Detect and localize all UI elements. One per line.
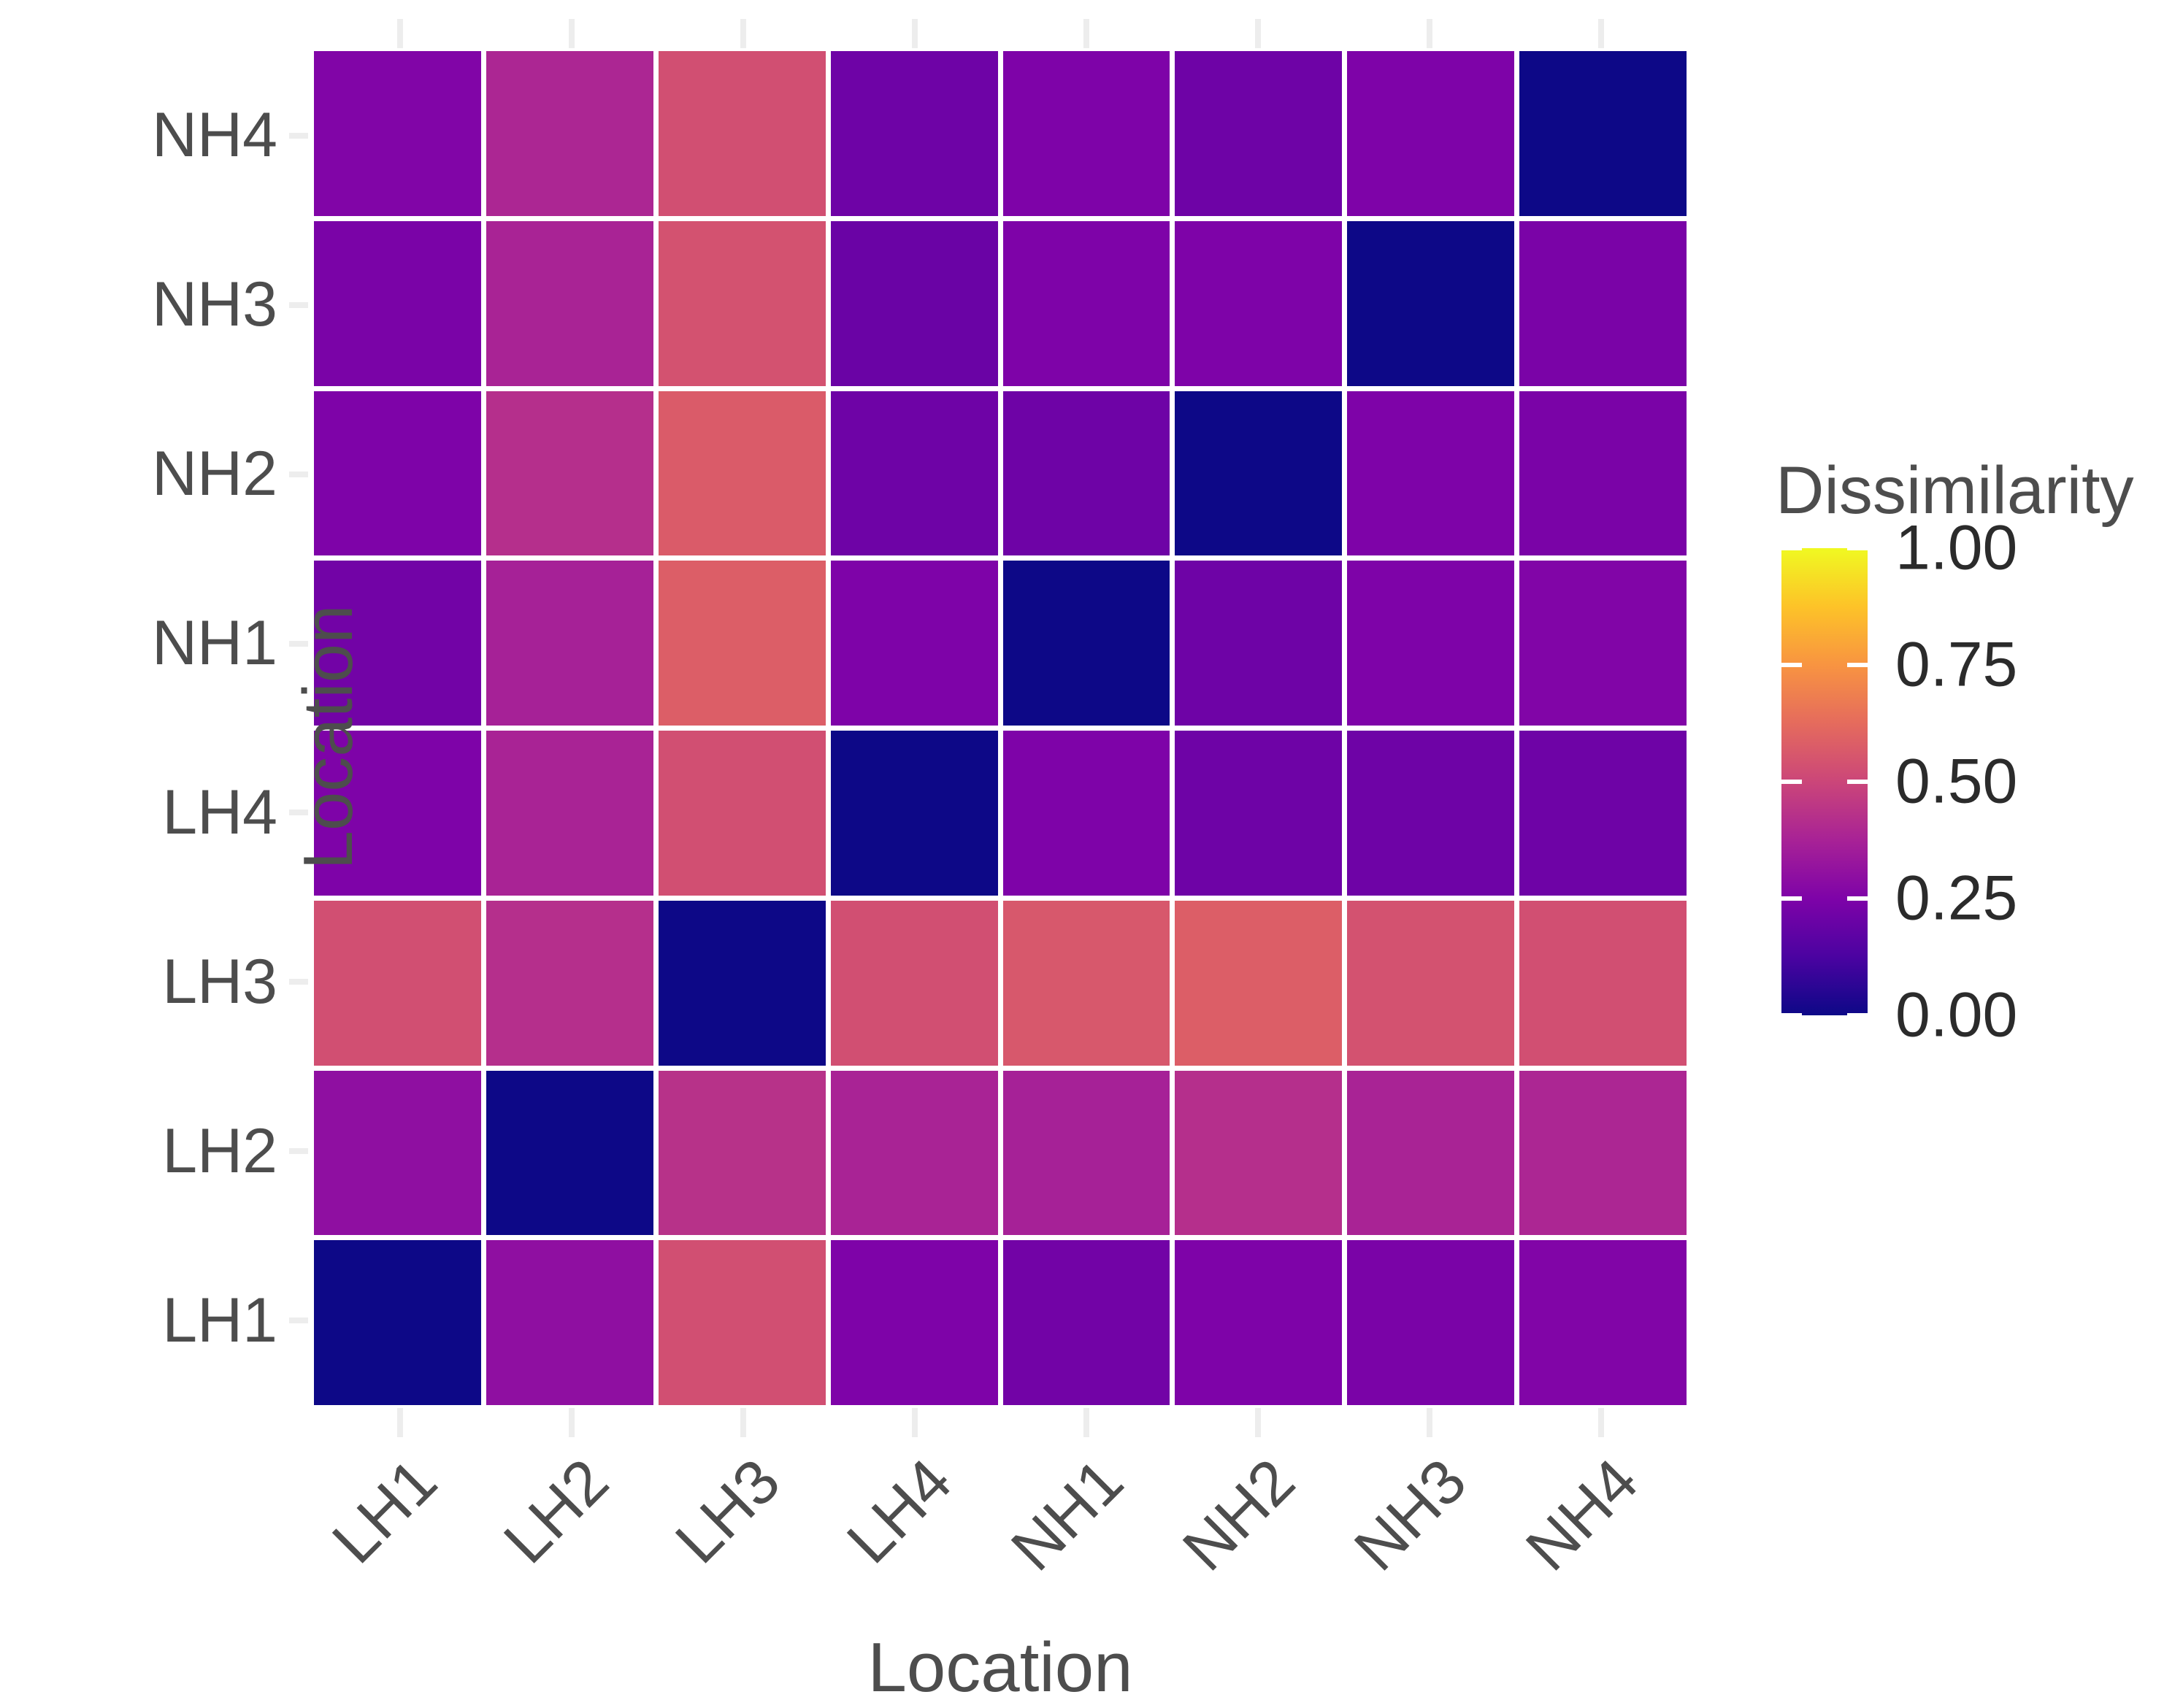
x-tick-mark [1255,1408,1261,1437]
x-axis-tick [1515,16,1687,51]
colorbar-tick-mark [1847,896,1868,901]
heatmap-cell [1175,51,1342,216]
y-axis-tick [289,1066,314,1236]
heatmap-cell [486,1071,653,1236]
x-tick-mark [397,1408,403,1437]
x-axis-tick [1343,1405,1515,1440]
heatmap-cell [831,901,998,1066]
x-axis-tick-label-cell: LH3 [657,1445,829,1613]
heatmap-cell [1003,391,1170,556]
x-tick-mark [569,19,575,48]
y-tick-mark [289,133,308,139]
x-axis-tick-label-cell: LH4 [829,1445,1000,1613]
heatmap-cell [1003,731,1170,896]
x-axis-tick [829,1405,1000,1440]
colorbar-tick-mark [1847,1013,1868,1018]
heatmap-cell [1519,391,1687,556]
y-axis-tick-label: NH2 [152,438,277,510]
heatmap-cell [1347,731,1514,896]
y-axis-tick-label-row: LH4 [66,728,285,898]
heatmap-cell [1347,901,1514,1066]
heatmap-cell [1003,51,1170,216]
heatmap-cell [1003,221,1170,386]
colorbar-tick-label: 0.75 [1895,629,2017,701]
x-tick-mark [1427,19,1432,48]
y-axis-tick-label: NH4 [152,99,277,172]
y-axis-tick-label: LH2 [162,1115,277,1188]
heatmap-cell [486,901,653,1066]
heatmap-cell [1519,1240,1687,1405]
heatmap-cell [1519,1071,1687,1236]
x-axis-tick-label: NH4 [1512,1445,1652,1585]
colorbar-tick-mark [1781,896,1802,901]
y-axis-tick-label-row: NH2 [66,390,285,559]
x-axis-tick-label: NH3 [1340,1445,1481,1585]
heatmap-cell [831,51,998,216]
heatmap-cell [1347,51,1514,216]
heatmap-cell [1003,1240,1170,1405]
heatmap-cell [831,561,998,726]
x-tick-mark [912,19,918,48]
x-tick-mark [912,1408,918,1437]
x-axis-tick [657,1405,829,1440]
heatmap-figure: NH4NH3NH2NH1LH4LH3LH2LH1 Location LH1LH2… [0,0,2183,1701]
x-tick-mark [397,19,403,48]
heatmap-cell [831,221,998,386]
x-axis-tick-label-cell: NH4 [1515,1445,1687,1613]
y-tick-mark [289,302,308,308]
heatmap-cell [486,391,653,556]
heatmap-cell [1519,731,1687,896]
x-axis-tick [657,16,829,51]
heatmap-cell [314,1071,481,1236]
x-axis-tick [486,1405,657,1440]
x-axis-tick [1343,16,1515,51]
heatmap-cell [1347,1240,1514,1405]
heatmap-cell [486,731,653,896]
y-axis-tick-label: LH3 [162,946,277,1018]
colorbar-tick-label: 0.50 [1895,746,2017,818]
heatmap-cell [1175,221,1342,386]
heatmap-cell [486,1240,653,1405]
colorbar-tick-mark [1847,780,1868,784]
colorbar-tick-mark [1781,780,1802,784]
heatmap-cell [314,51,481,216]
x-axis-tick [1000,16,1172,51]
heatmap-cell [1347,1071,1514,1236]
x-tick-mark [1598,1408,1604,1437]
legend-body: 1.000.750.500.250.00 [1774,548,2168,1015]
heatmap-cell [1347,221,1514,386]
heatmap-cell [659,561,826,726]
heatmap-cell [1175,391,1342,556]
y-tick-mark [289,1317,308,1323]
heatmap-cell [486,51,653,216]
y-axis-tick-label: LH1 [162,1285,277,1357]
y-axis-tick-labels: NH4NH3NH2NH1LH4LH3LH2LH1 [66,51,285,1405]
y-axis-title: Location [288,504,369,971]
legend: Dissimilarity 1.000.750.500.250.00 [1774,453,2168,1015]
x-axis-tick [1172,16,1343,51]
heatmap-cell [659,221,826,386]
x-tick-mark [569,1408,575,1437]
x-axis-tick [1172,1405,1343,1440]
x-tick-mark [1083,19,1089,48]
heatmap-cell [1003,901,1170,1066]
heatmap-cell [314,1240,481,1405]
x-axis-tick-label: NH1 [997,1445,1137,1585]
y-tick-mark [289,1148,308,1154]
x-axis-tick [829,16,1000,51]
heatmap-cell [659,391,826,556]
y-axis-tick-label: LH4 [162,777,277,849]
plot-area: NH4NH3NH2NH1LH4LH3LH2LH1 Location LH1LH2… [314,51,1687,1405]
heatmap-cell [831,1240,998,1405]
heatmap-cell [1175,1240,1342,1405]
heatmap-cell [1175,901,1342,1066]
x-axis-tick [314,16,486,51]
colorbar-tick-mark [1781,546,1802,550]
heatmap-cell [1347,391,1514,556]
colorbar-tick-label: 1.00 [1895,512,2017,585]
colorbar-tick-mark [1781,1013,1802,1018]
y-axis-tick-label-row: NH1 [66,559,285,728]
heatmap-cell [659,1240,826,1405]
heatmap-cell [314,221,481,386]
x-tick-mark [1255,19,1261,48]
heatmap-cell [1347,561,1514,726]
heatmap-cell [831,731,998,896]
y-tick-mark [289,979,308,985]
x-axis-tick [314,1405,486,1440]
x-axis-tick-label-cell: NH3 [1343,1445,1515,1613]
y-axis-tick-label-row: LH1 [66,1236,285,1405]
x-axis-tick-label: LH1 [318,1445,451,1578]
x-axis-tick [1000,1405,1172,1440]
x-tick-mark [740,1408,746,1437]
x-tick-mark [740,19,746,48]
heatmap-cell [831,391,998,556]
y-axis-tick-label-row: NH4 [66,51,285,220]
heatmap-cell [831,1071,998,1236]
x-axis-tick-label-cell: NH1 [1000,1445,1172,1613]
colorbar-tick-mark [1781,663,1802,667]
y-axis-tick-label-row: NH3 [66,220,285,390]
heatmap-cell [1175,561,1342,726]
heatmap-cell [659,51,826,216]
heatmap-cell [1519,901,1687,1066]
heatmap-cell [1003,1071,1170,1236]
y-axis-tick [289,51,314,220]
heatmap-cell [1003,561,1170,726]
x-axis-ticks-top [314,16,1687,51]
x-tick-mark [1598,19,1604,48]
heatmap-cell [486,561,653,726]
x-axis-tick [486,16,657,51]
y-axis-tick [289,1236,314,1405]
x-axis-tick-label: NH2 [1169,1445,1309,1585]
x-axis-tick-label: LH4 [833,1445,966,1578]
heatmap-cell [1175,1071,1342,1236]
colorbar-wrapper [1781,548,1868,1015]
x-axis-tick-label-cell: LH2 [486,1445,657,1613]
x-axis-tick-label: LH2 [490,1445,623,1578]
y-axis-tick [289,220,314,390]
x-tick-mark [1083,1408,1089,1437]
heatmap-cell [1519,51,1687,216]
x-axis-title: Location [314,1628,1687,1708]
heatmap-cell [1519,221,1687,386]
x-axis-tick-labels: LH1LH2LH3LH4NH1NH2NH3NH4 [314,1445,1687,1613]
heatmap-cell [659,901,826,1066]
x-axis-tick-label-cell: LH1 [314,1445,486,1613]
colorbar-tick-mark [1847,663,1868,667]
heatmap-grid [314,51,1687,1405]
colorbar-tick-label: 0.25 [1895,863,2017,935]
x-axis-tick-label-cell: NH2 [1172,1445,1343,1613]
x-tick-mark [1427,1408,1432,1437]
x-axis-tick [1515,1405,1687,1440]
x-axis-tick-label: LH3 [661,1445,794,1578]
heatmap-cell [1175,731,1342,896]
y-axis-tick-label: NH3 [152,269,277,341]
y-axis-tick-label: NH1 [152,607,277,680]
y-tick-mark [289,472,308,477]
x-axis-ticks-bottom [314,1405,1687,1440]
heatmap-cell [659,731,826,896]
colorbar-tick-labels: 1.000.750.500.250.00 [1895,548,2158,1015]
y-axis-tick-label-row: LH3 [66,897,285,1066]
heatmap-cell [486,221,653,386]
heatmap-cell [659,1071,826,1236]
heatmap-cell [1519,561,1687,726]
y-axis-tick-label-row: LH2 [66,1066,285,1236]
colorbar-tick-mark [1847,546,1868,550]
colorbar-tick-label: 0.00 [1895,980,2017,1052]
